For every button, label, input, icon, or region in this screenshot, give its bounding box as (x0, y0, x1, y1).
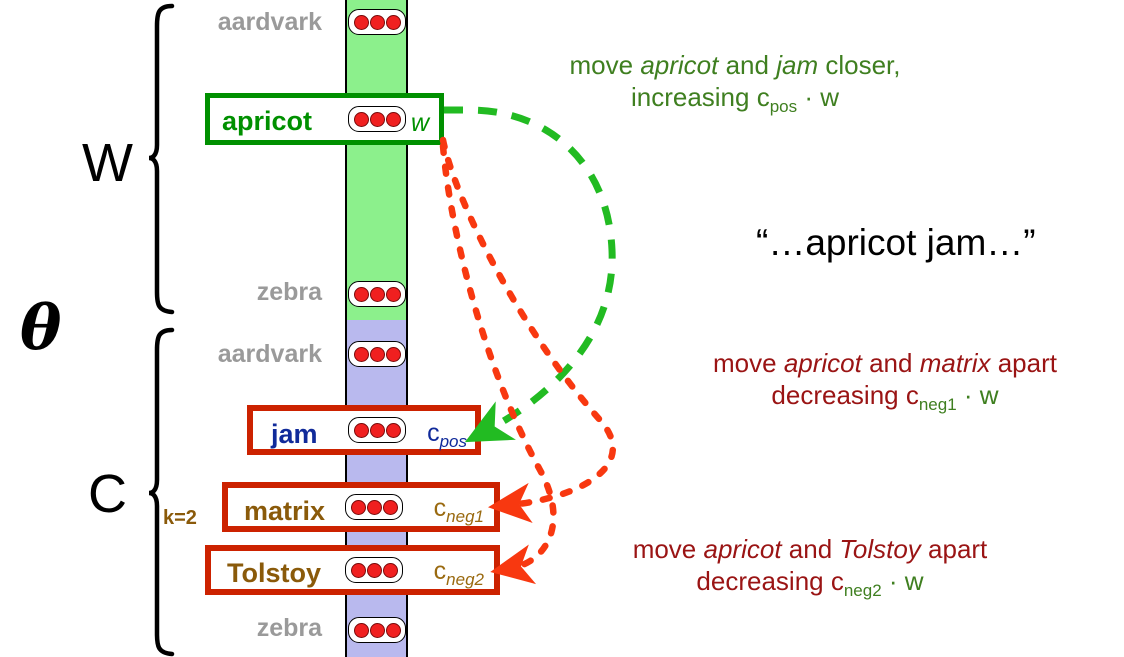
row-label-jam: jam (271, 419, 318, 450)
brace-c (149, 330, 172, 654)
vector-dot (370, 112, 385, 127)
ann0-pre: move (570, 50, 641, 80)
vector-matrix (345, 494, 403, 520)
vector-dot (386, 347, 401, 362)
annotation-positive: move apricot and jam closer, increasing … (525, 50, 945, 118)
annotation-negative2: move apricot and Tolstoy apart decreasin… (580, 534, 1040, 602)
ann2-pre: move (633, 534, 704, 564)
annotation-negative2-line2: decreasing cneg2 · w (580, 566, 1040, 602)
vector-dot (354, 287, 369, 302)
ann2-mid: and (782, 534, 840, 564)
ann2-l2sub: neg2 (844, 581, 882, 600)
annotation-positive-line1: move apricot and jam closer, (525, 50, 945, 82)
row-label-matrix: matrix (244, 496, 325, 527)
ann2-em2: Tolstoy (839, 534, 920, 564)
ann1-em1: apricot (784, 348, 862, 378)
ann2-post: apart (921, 534, 988, 564)
symbol-c-pos-sub: pos (440, 432, 467, 451)
vector-aardvark-c (348, 341, 406, 367)
annotation-negative1: move apricot and matrix apart decreasing… (660, 348, 1110, 416)
symbol-c-pos: cpos (427, 419, 467, 452)
vector-apricot (348, 106, 406, 132)
ann1-em2: matrix (920, 348, 991, 378)
vector-dot (351, 563, 366, 578)
row-label-aardvark-w: aardvark (130, 8, 322, 37)
annotation-positive-line2: increasing cpos · w (525, 82, 945, 118)
ann1-l2post: · w (957, 380, 999, 410)
label-theta: θ (20, 291, 61, 364)
ann0-l2pre: increasing c (631, 82, 770, 112)
ann0-em2: jam (776, 50, 818, 80)
vector-dot (351, 500, 366, 515)
vector-dot (370, 347, 385, 362)
vector-dot (383, 563, 398, 578)
symbol-c-neg2-sub: neg2 (446, 570, 484, 589)
vector-dot (370, 623, 385, 638)
symbol-c-neg2: cneg2 (434, 557, 484, 590)
label-w-matrix: W (82, 132, 133, 194)
vector-zebra-w (348, 281, 406, 307)
symbol-w: w (411, 109, 429, 138)
row-label-zebra-c: zebra (130, 614, 322, 643)
ann0-l2sub: pos (770, 97, 797, 116)
vector-jam (348, 417, 406, 443)
symbol-c-neg1: cneg1 (434, 494, 484, 527)
vector-dot (367, 563, 382, 578)
vector-tolstoy (345, 557, 403, 583)
vector-dot (386, 287, 401, 302)
ann0-em1: apricot (640, 50, 718, 80)
annotation-negative1-line2: decreasing cneg1 · w (660, 380, 1110, 416)
brace-w (149, 6, 172, 312)
vector-dot (354, 112, 369, 127)
vector-dot (354, 347, 369, 362)
vector-zebra-c (348, 617, 406, 643)
ann1-l2pre: decreasing c (771, 380, 918, 410)
symbol-c-pos-base: c (427, 419, 440, 447)
vector-dot (354, 623, 369, 638)
row-label-tolstoy: Tolstoy (227, 558, 321, 589)
annotation-negative1-line1: move apricot and matrix apart (660, 348, 1110, 380)
vector-dot (354, 15, 369, 30)
row-label-zebra-w: zebra (130, 278, 322, 307)
vector-dot (386, 623, 401, 638)
ann2-em1: apricot (704, 534, 782, 564)
annotation-negative2-line1: move apricot and Tolstoy apart (580, 534, 1040, 566)
ann0-l2post: · w (797, 82, 839, 112)
ann0-mid: and (718, 50, 776, 80)
arrow-apricot-to-jam (444, 110, 612, 431)
diagram-canvas: aardvark zebra aardvark zebra apricot w … (0, 0, 1124, 657)
ann1-pre: move (713, 348, 784, 378)
label-c-matrix: C (88, 463, 127, 525)
row-label-aardvark-c: aardvark (130, 340, 322, 369)
vector-dot (383, 500, 398, 515)
vector-dot (386, 15, 401, 30)
ann0-post: closer, (818, 50, 900, 80)
w-matrix-column-segment (345, 0, 408, 320)
ann2-l2pre: decreasing c (696, 566, 843, 596)
vector-dot (386, 112, 401, 127)
vector-dot (370, 287, 385, 302)
ann1-post: apart (990, 348, 1057, 378)
symbol-c-neg1-base: c (434, 494, 447, 522)
row-label-apricot: apricot (222, 106, 312, 137)
ann1-mid: and (862, 348, 920, 378)
vector-dot (386, 423, 401, 438)
vector-aardvark-w (348, 9, 406, 35)
corpus-quote: “…apricot jam…” (756, 222, 1036, 264)
vector-dot (370, 423, 385, 438)
symbol-c-neg2-base: c (434, 557, 447, 585)
row-box-apricot[interactable]: apricot w (205, 93, 444, 145)
ann2-l2post: · w (882, 566, 924, 596)
label-k: k=2 (163, 507, 197, 530)
symbol-c-neg1-sub: neg1 (446, 507, 484, 526)
vector-dot (367, 500, 382, 515)
vector-dot (354, 423, 369, 438)
vector-dot (370, 15, 385, 30)
ann1-l2sub: neg1 (919, 395, 957, 414)
